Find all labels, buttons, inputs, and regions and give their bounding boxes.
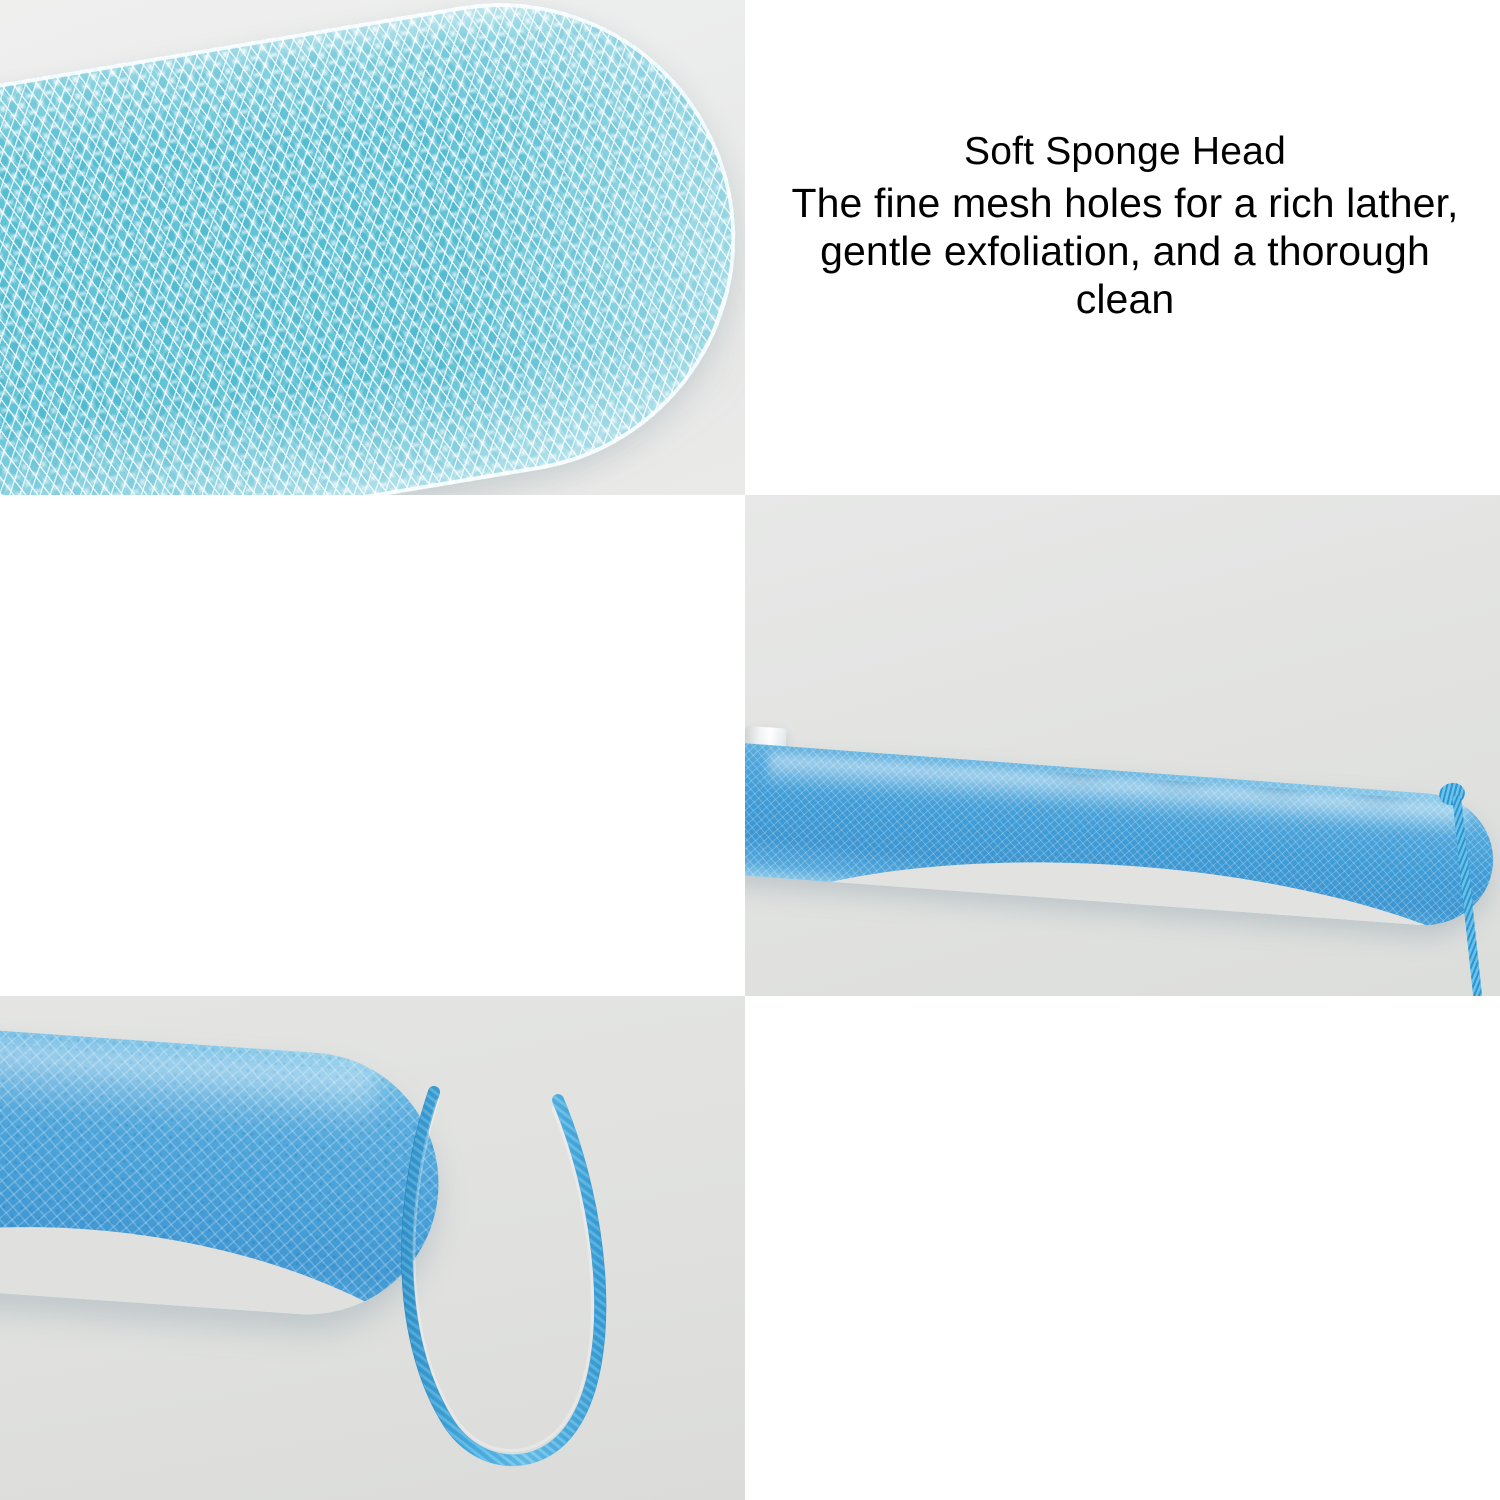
hanging-rope-loop (390, 1082, 620, 1482)
handle-body (745, 742, 1498, 930)
sponge-edge-highlight (0, 0, 745, 495)
handle-photo-panel (745, 495, 1500, 996)
rope-loop-photo-panel (0, 996, 745, 1500)
feature-1-text-panel: Soft Sponge Head The fine mesh holes for… (745, 0, 1500, 495)
feature-1-body-line-3: clean (780, 276, 1470, 324)
feature-1-text-block: Soft Sponge Head The fine mesh holes for… (780, 130, 1470, 324)
feature-3-text-panel: Hanging Rope Easy to hang, prevents bact… (745, 996, 1500, 1500)
sponge-head-photo-panel (0, 0, 745, 495)
feature-1-body-line-1: The fine mesh holes for a rich lather, (780, 180, 1470, 228)
feature-1-body-line-2: gentle exfoliation, and a thorough (780, 228, 1470, 276)
product-feature-infographic: Soft Sponge Head The fine mesh holes for… (0, 0, 1500, 1500)
feature-1-title: Soft Sponge Head (780, 130, 1470, 174)
feature-2-text-panel: Anti-slip Handle Mimics the feel of huma… (0, 495, 745, 996)
rope-loop-icon (390, 1082, 620, 1482)
handle-image (745, 720, 1500, 930)
feature-1-body: The fine mesh holes for a rich lather, g… (780, 180, 1470, 324)
sponge-head-image (0, 0, 745, 495)
